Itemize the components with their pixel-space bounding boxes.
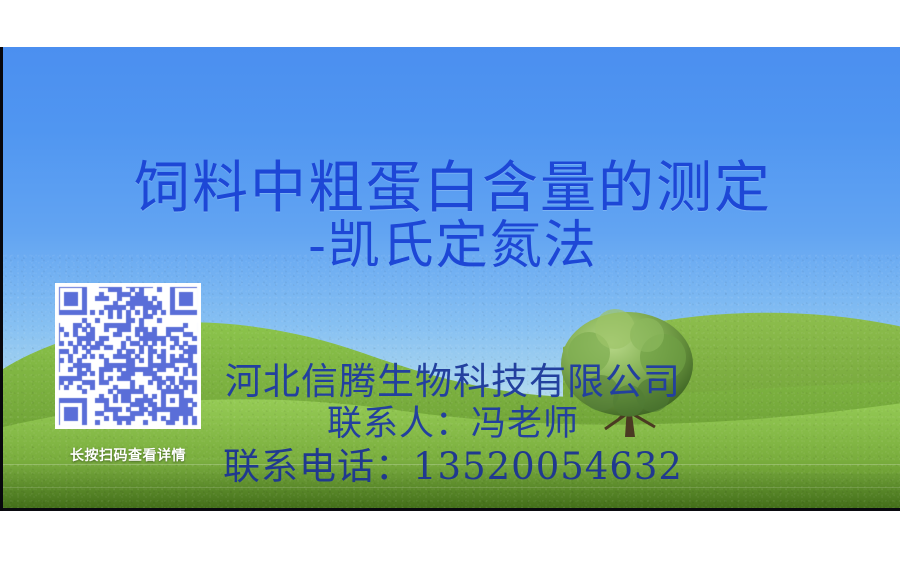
qr-caption: 长按扫码查看详情 bbox=[55, 445, 201, 465]
qr-code-icon[interactable] bbox=[55, 283, 201, 429]
tree-icon bbox=[555, 309, 705, 441]
horizon-seam-lower bbox=[3, 487, 900, 488]
video-poster-frame[interactable]: 饲料中粗蛋白含量的测定 -凯氏定氮法 河北信腾生物科技有限公司 联系人：冯老师 … bbox=[0, 47, 900, 511]
page-root: 饲料中粗蛋白含量的测定 -凯氏定氮法 河北信腾生物科技有限公司 联系人：冯老师 … bbox=[0, 0, 900, 561]
frame-bottom-edge bbox=[3, 508, 900, 511]
